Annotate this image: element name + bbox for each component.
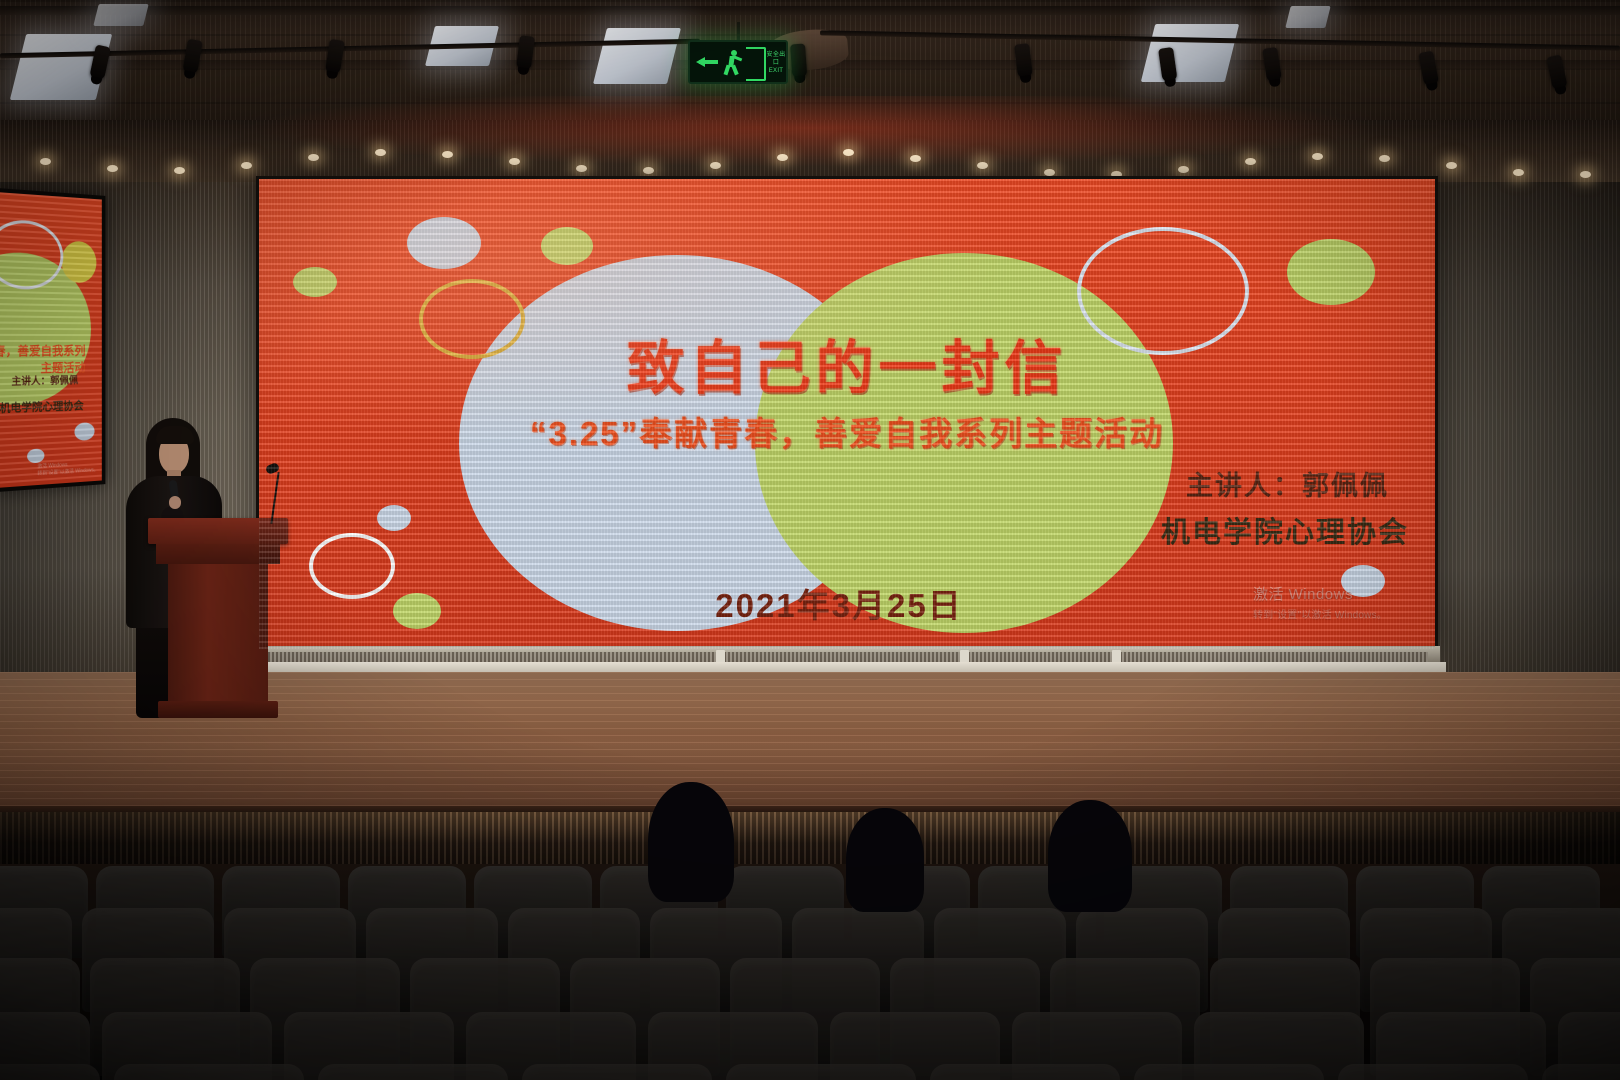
slide-subtitle: “3.25”奉献青春，善爱自我系列主题活动 xyxy=(259,407,1435,455)
auditorium-seat xyxy=(114,1064,304,1080)
emergency-exit-sign: 安全出口 EXIT xyxy=(688,40,788,84)
ceiling-panel-light xyxy=(1285,6,1330,28)
auditorium-seat xyxy=(726,1064,916,1080)
auditorium-seat xyxy=(318,1064,508,1080)
rail-shading xyxy=(0,812,1620,864)
auditorium-seat xyxy=(522,1064,712,1080)
audience-head-silhouette xyxy=(1048,800,1132,912)
ceiling-panel-light xyxy=(593,28,681,84)
lectern-base xyxy=(158,701,278,718)
left-arrow-icon xyxy=(695,49,721,75)
soffit-downlight xyxy=(375,149,386,156)
slide-content: 致自己的一封信 “3.25”奉献青春，善爱自我系列主题活动 主讲人：郭佩佩 机电… xyxy=(259,179,1435,649)
soffit-downlight xyxy=(40,158,51,165)
ceiling-panel-light xyxy=(93,4,148,26)
ceiling-beam xyxy=(0,6,1620,15)
presenter-hand xyxy=(169,496,181,509)
lectern-body xyxy=(168,564,268,704)
soffit-downlight xyxy=(1245,158,1256,165)
auditorium-seat xyxy=(930,1064,1120,1080)
soffit-downlight xyxy=(174,167,185,174)
watermark-line2: 转到"设置"以激活 Windows。 xyxy=(1253,606,1387,621)
side-led-screen: “3.25”奉献青春，善爱自我系列主题活动 主讲人：郭佩佩 机电学院心理协会 激… xyxy=(0,188,105,492)
presenter-bangs xyxy=(156,426,194,444)
main-led-screen: 致自己的一封信 “3.25”奉献青春，善爱自我系列主题活动 主讲人：郭佩佩 机电… xyxy=(256,176,1438,652)
audience-head-silhouette xyxy=(648,782,734,902)
exit-text-cn: 安全出口 xyxy=(766,51,786,67)
gooseneck-microphone-icon xyxy=(222,464,292,524)
auditorium-seat xyxy=(0,1064,100,1080)
slide-organization: 机电学院心理协会 xyxy=(259,509,1409,551)
soffit-downlight xyxy=(576,165,587,172)
slide-text-block: 致自己的一封信 “3.25”奉献青春，善爱自我系列主题活动 主讲人：郭佩佩 机电… xyxy=(259,179,1435,649)
soffit-downlight xyxy=(643,167,654,174)
slide-date: 2021年3月25日 xyxy=(679,579,999,627)
watermark-line1: 激活 Windows xyxy=(1253,583,1387,604)
soffit-downlight xyxy=(241,162,252,169)
soffit-downlight xyxy=(1178,166,1189,173)
soffit-downlight xyxy=(107,165,118,172)
slide-speaker: 主讲人：郭佩佩 xyxy=(259,464,1389,503)
running-person-icon xyxy=(721,48,743,76)
auditorium-seat xyxy=(1542,1064,1620,1080)
soffit-downlight xyxy=(777,154,788,161)
lectern-apron xyxy=(156,544,280,564)
soffit-downlight xyxy=(710,162,721,169)
windows-activation-watermark: 激活 Windows 转到"设置"以激活 Windows。 xyxy=(1253,583,1387,621)
auditorium-seat xyxy=(1338,1064,1528,1080)
ceiling-panel-light xyxy=(1141,24,1239,82)
exit-sign-text: 安全出口 EXIT xyxy=(766,51,786,75)
lectern xyxy=(148,518,288,718)
exit-sign-mount xyxy=(737,22,740,42)
soffit-downlight xyxy=(1580,171,1591,178)
door-frame-icon xyxy=(746,47,766,81)
track-spotlight xyxy=(790,43,807,78)
exit-text-en: EXIT xyxy=(766,67,786,75)
audience-head-silhouette xyxy=(846,808,924,912)
auditorium-seat xyxy=(1134,1064,1324,1080)
soffit-downlight xyxy=(442,151,453,158)
auditorium-photo: 安全出口 EXIT “3.25”奉献青春，善爱自我系列主题活动 主讲人：郭佩佩 … xyxy=(0,0,1620,1080)
soffit-downlight xyxy=(509,158,520,165)
side-screen-dot-yellow xyxy=(61,240,96,283)
soffit-slat-texture xyxy=(0,120,1620,182)
wall-soffit xyxy=(0,120,1620,182)
slide-title: 致自己的一封信 xyxy=(259,321,1435,405)
soffit-downlight xyxy=(308,154,319,161)
